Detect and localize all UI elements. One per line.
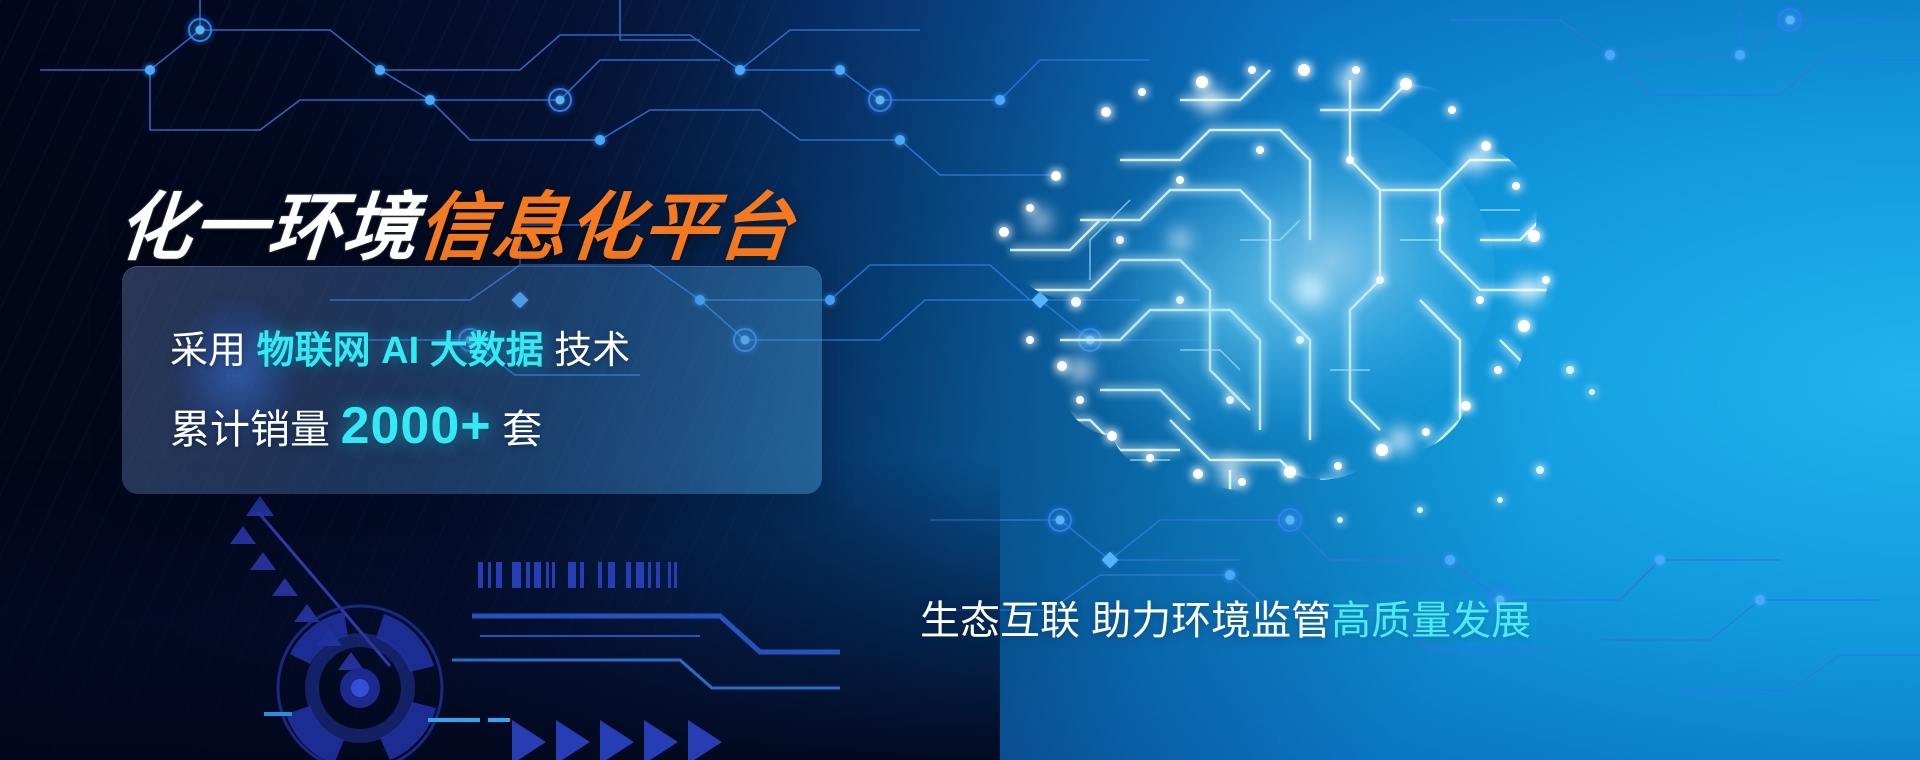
- tagline-white: 生态互联 助力环境监管: [920, 599, 1331, 643]
- panel-line2-number: 2000+: [341, 397, 492, 455]
- background-bottom-shade: [0, 460, 1000, 760]
- banner-tagline: 生态互联 助力环境监管高质量发展: [920, 588, 1531, 646]
- panel-line-sales: 累计销量 2000+ 套: [170, 396, 542, 456]
- panel-line1-suffix: 技术: [554, 330, 630, 372]
- title-part-orange: 信息化平台: [414, 186, 796, 269]
- title-part-white: 化一环境: [114, 186, 421, 269]
- brain-glow: [1000, 120, 1480, 500]
- panel-line1-prefix: 采用: [170, 330, 246, 372]
- panel-line2-prefix: 累计销量: [170, 408, 330, 452]
- panel-dot-texture: [174, 286, 294, 486]
- panel-line-technology: 采用 物联网 AI 大数据 技术: [170, 319, 630, 374]
- panel-line2-suffix: 套: [502, 408, 542, 452]
- banner-title: 化一环境信息化平台: [115, 191, 796, 265]
- highlight-panel: 采用 物联网 AI 大数据 技术 累计销量 2000+ 套: [122, 266, 822, 494]
- panel-line1-highlight: 物联网 AI 大数据: [257, 330, 544, 372]
- tagline-cyan: 高质量发展: [1331, 599, 1531, 643]
- promo-banner: 化一环境信息化平台 采用 物联网 AI 大数据 技术 累计销量 2000+ 套 …: [0, 0, 1920, 760]
